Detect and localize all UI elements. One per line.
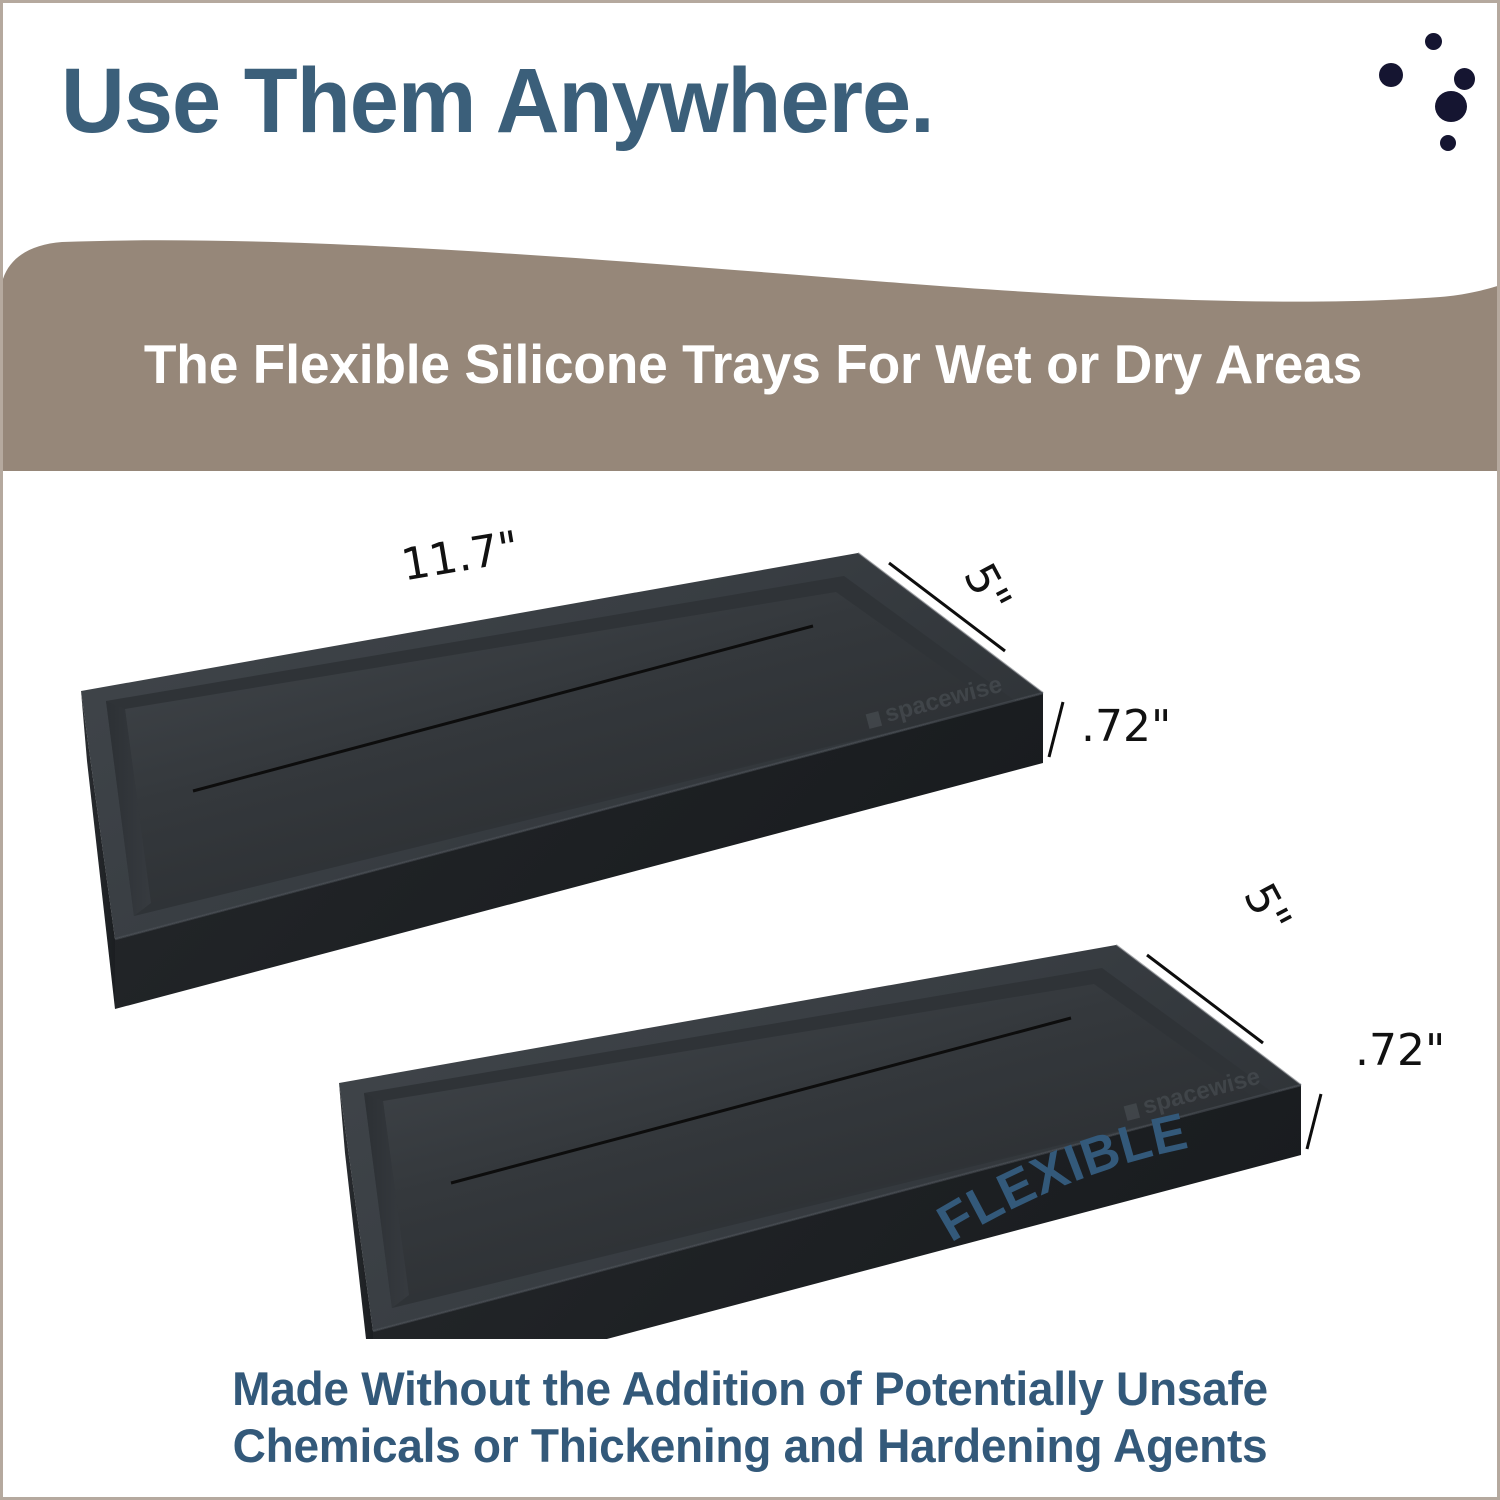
decor-dot-icon: [1425, 33, 1442, 50]
bottom-caption: Made Without the Addition of Potentially…: [18, 1360, 1482, 1475]
flexible-label-text: FLEXIBLE: [928, 1102, 1193, 1253]
banner-subtitle: The Flexible Silicone Trays For Wet or D…: [23, 332, 1484, 396]
page-title: Use Them Anywhere.: [61, 55, 934, 147]
dimension-label-height-bottom: .72": [1355, 1025, 1445, 1076]
decor-dot-icon: [1379, 63, 1403, 87]
product-infographic: Use Them Anywhere. The Flexible Silicone…: [0, 0, 1500, 1500]
dot-cluster-decoration: [1353, 31, 1483, 161]
flexible-badge: FLEXIBLE: [943, 1121, 1263, 1251]
caption-line-2: Chemicals or Thickening and Hardening Ag…: [18, 1417, 1482, 1474]
caption-line-1: Made Without the Addition of Potentially…: [18, 1360, 1482, 1417]
flexible-label: FLEXIBLE: [928, 1102, 1193, 1253]
decor-dot-icon: [1435, 91, 1467, 122]
tray-top-illustration: spacewise: [81, 553, 1063, 1009]
subtitle-banner: The Flexible Silicone Trays For Wet or D…: [0, 239, 1500, 471]
decor-dot-icon: [1440, 135, 1456, 151]
decor-dot-icon: [1454, 68, 1475, 90]
dimension-label-height-top: .72": [1081, 701, 1171, 752]
